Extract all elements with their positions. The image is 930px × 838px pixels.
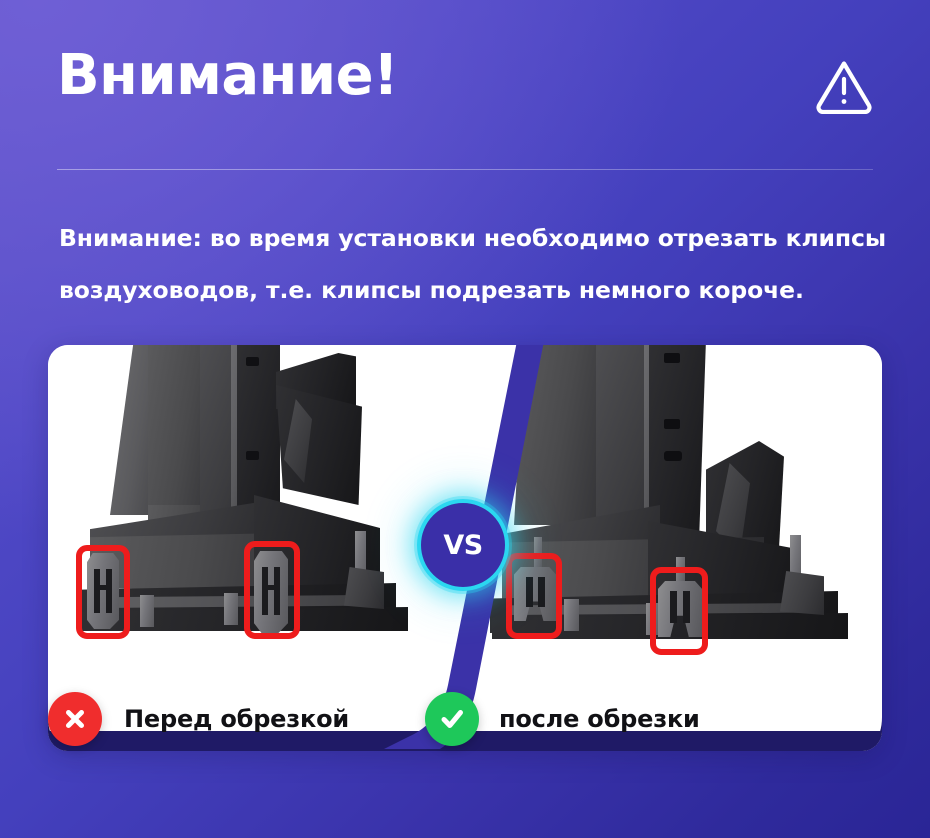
warning-description-line-1: Внимание: во время установки необходимо …	[59, 212, 889, 264]
caption-before: Перед обрезкой	[48, 692, 349, 746]
caption-before-label: Перед обрезкой	[124, 705, 349, 733]
comparison-pane-after	[468, 345, 882, 751]
caption-after: после обрезки	[425, 692, 700, 746]
x-circle-icon	[48, 692, 102, 746]
caption-after-label: после обрезки	[499, 705, 700, 733]
header: Внимание!	[57, 48, 873, 144]
warning-infographic-page: Внимание! Внимание: во время установки н…	[0, 0, 930, 838]
check-circle-icon	[425, 692, 479, 746]
photo-after-cut	[468, 345, 882, 751]
warning-description-line-2: воздуховодов, т.е. клипсы подрезать немн…	[59, 264, 889, 316]
page-title: Внимание!	[57, 48, 398, 104]
vs-label: VS	[443, 532, 482, 559]
clip-highlight-after-2	[650, 567, 708, 655]
clip-highlight-before-1	[76, 545, 130, 639]
comparison-pane-before	[48, 345, 468, 751]
warning-triangle-icon	[815, 58, 873, 114]
clip-highlight-before-2	[244, 541, 300, 639]
photo-before-cut	[48, 345, 468, 751]
warning-description: Внимание: во время установки необходимо …	[59, 212, 889, 316]
vs-badge: VS	[417, 499, 509, 591]
clip-highlight-after-1	[506, 553, 562, 639]
header-divider	[57, 169, 873, 170]
